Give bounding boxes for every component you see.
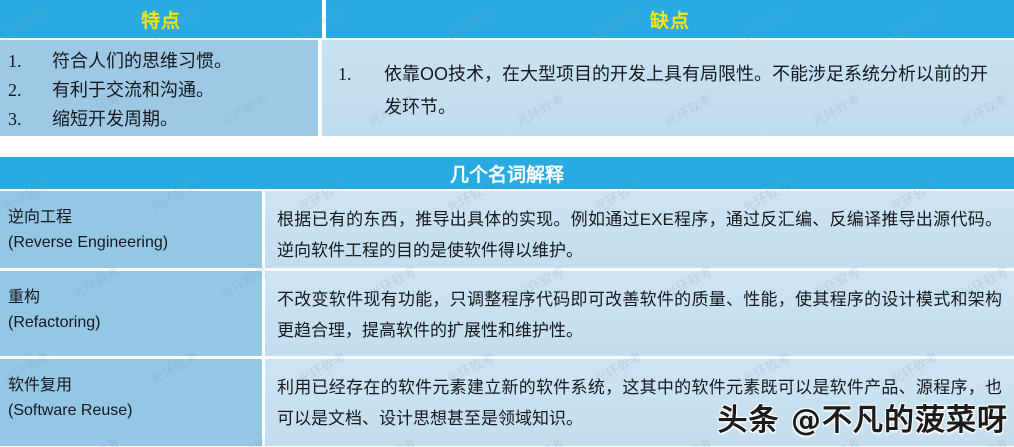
term-cn: 软件复用 [8, 373, 262, 398]
glossary-definition: 不改变软件现有功能，只调整程序代码即可改善软件的质量、性能，使其程序的设计模式和… [265, 271, 1014, 356]
list-item: 3. 缩短开发周期。 [8, 105, 318, 134]
glossary-term: 软件复用 (Software Reuse) [0, 359, 262, 446]
pros-cons-body-row: 1. 符合人们的思维习惯。 2. 有利于交流和沟通。 3. 缩短开发周期。 1.… [0, 40, 1014, 136]
list-item-text: 有利于交流和沟通。 [52, 76, 318, 105]
term-en: (Refactoring) [8, 310, 262, 335]
term-cn: 重构 [8, 285, 262, 310]
cons-header-cell: 缺点 [326, 0, 1014, 38]
list-item-text: 缩短开发周期。 [52, 105, 318, 134]
slide-page: 特点 缺点 1. 符合人们的思维习惯。 2. 有利于交流和沟通。 3. 缩短开发… [0, 0, 1014, 447]
table-row: 逆向工程 (Reverse Engineering) 根据已有的东西，推导出具体… [0, 191, 1014, 271]
pros-header-cell: 特点 [0, 0, 322, 38]
channel-signature-watermark: 头条 @不凡的菠菜呀 [718, 395, 1008, 439]
list-item-text: 符合人们的思维习惯。 [52, 47, 318, 76]
pros-cons-table: 特点 缺点 1. 符合人们的思维习惯。 2. 有利于交流和沟通。 3. 缩短开发… [0, 0, 1014, 136]
term-en: (Reverse Engineering) [8, 230, 262, 255]
pros-cons-header-row: 特点 缺点 [0, 0, 1014, 38]
term-cn: 逆向工程 [8, 205, 262, 230]
glossary-header: 几个名词解释 [0, 157, 1014, 189]
glossary-term: 逆向工程 (Reverse Engineering) [0, 191, 262, 268]
list-item: 1. 依靠OO技术，在大型项目的开发上具有局限性。不能涉足系统分析以前的开发环节… [338, 58, 1000, 124]
list-item: 2. 有利于交流和沟通。 [8, 76, 318, 105]
cons-cell: 1. 依靠OO技术，在大型项目的开发上具有局限性。不能涉足系统分析以前的开发环节… [322, 40, 1014, 136]
glossary-term: 重构 (Refactoring) [0, 271, 262, 356]
list-item-number: 3. [8, 105, 52, 134]
list-item-number: 2. [8, 76, 52, 105]
list-item-text: 依靠OO技术，在大型项目的开发上具有局限性。不能涉足系统分析以前的开发环节。 [384, 58, 1000, 124]
list-item-number: 1. [8, 47, 52, 76]
list-item-number: 1. [338, 58, 384, 91]
list-item: 1. 符合人们的思维习惯。 [8, 47, 318, 76]
table-row: 重构 (Refactoring) 不改变软件现有功能，只调整程序代码即可改善软件… [0, 271, 1014, 359]
glossary-definition: 根据已有的东西，推导出具体的实现。例如通过EXE程序，通过反汇编、反编译推导出源… [265, 191, 1014, 268]
term-en: (Software Reuse) [8, 398, 262, 423]
pros-cell: 1. 符合人们的思维习惯。 2. 有利于交流和沟通。 3. 缩短开发周期。 [0, 40, 318, 136]
